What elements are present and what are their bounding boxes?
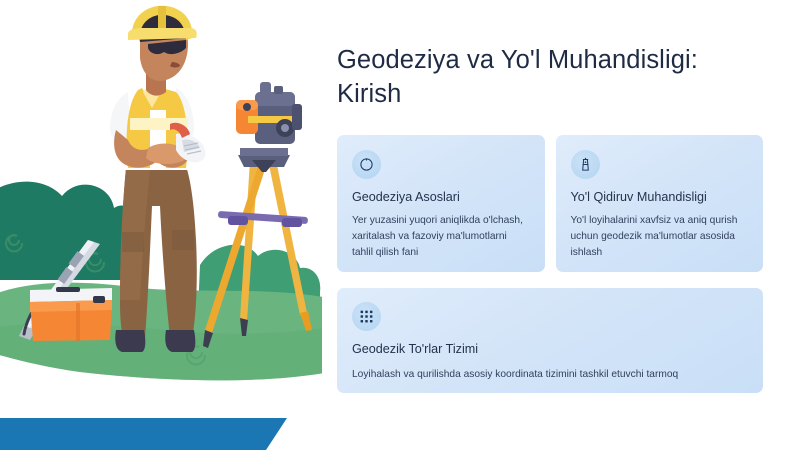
cards-container: Geodeziya Asoslari Yer yuzasini yuqori a… xyxy=(337,135,763,393)
accent-shape-bottom-left xyxy=(0,418,290,450)
card-title: Yo'l Qidiruv Muhandisligi xyxy=(571,190,748,206)
survey-beacon-icon xyxy=(571,150,600,179)
surveyor-illustration xyxy=(0,0,322,410)
card-title: Geodezik To'rlar Tizimi xyxy=(352,342,747,358)
card-geodezik-torlar-tizimi[interactable]: Geodezik To'rlar Tizimi Loyihalash va qu… xyxy=(337,288,763,393)
page-title: Geodeziya va Yo'l Muhandisligi: Kirish xyxy=(337,44,763,111)
card-description: Yer yuzasini yuqori aniqlikda o'lchash, … xyxy=(352,213,529,261)
card-title: Geodeziya Asoslari xyxy=(352,190,529,206)
card-geodeziya-asoslari[interactable]: Geodeziya Asoslari Yer yuzasini yuqori a… xyxy=(337,135,545,272)
card-yol-qidiruv-muhandisligi[interactable]: Yo'l Qidiruv Muhandisligi Yo'l loyihalar… xyxy=(556,135,764,272)
card-description: Yo'l loyihalarini xavfsiz va aniq qurish… xyxy=(571,213,748,261)
grid-network-icon xyxy=(352,302,381,331)
slide-root: Geodeziya va Yo'l Muhandisligi: Kirish G… xyxy=(0,0,800,450)
content-column: Geodeziya va Yo'l Muhandisligi: Kirish xyxy=(337,44,763,111)
cards-row-top: Geodeziya Asoslari Yer yuzasini yuqori a… xyxy=(337,135,763,272)
compass-icon xyxy=(352,150,381,179)
card-description: Loyihalash va qurilishda asosiy koordina… xyxy=(352,367,747,383)
